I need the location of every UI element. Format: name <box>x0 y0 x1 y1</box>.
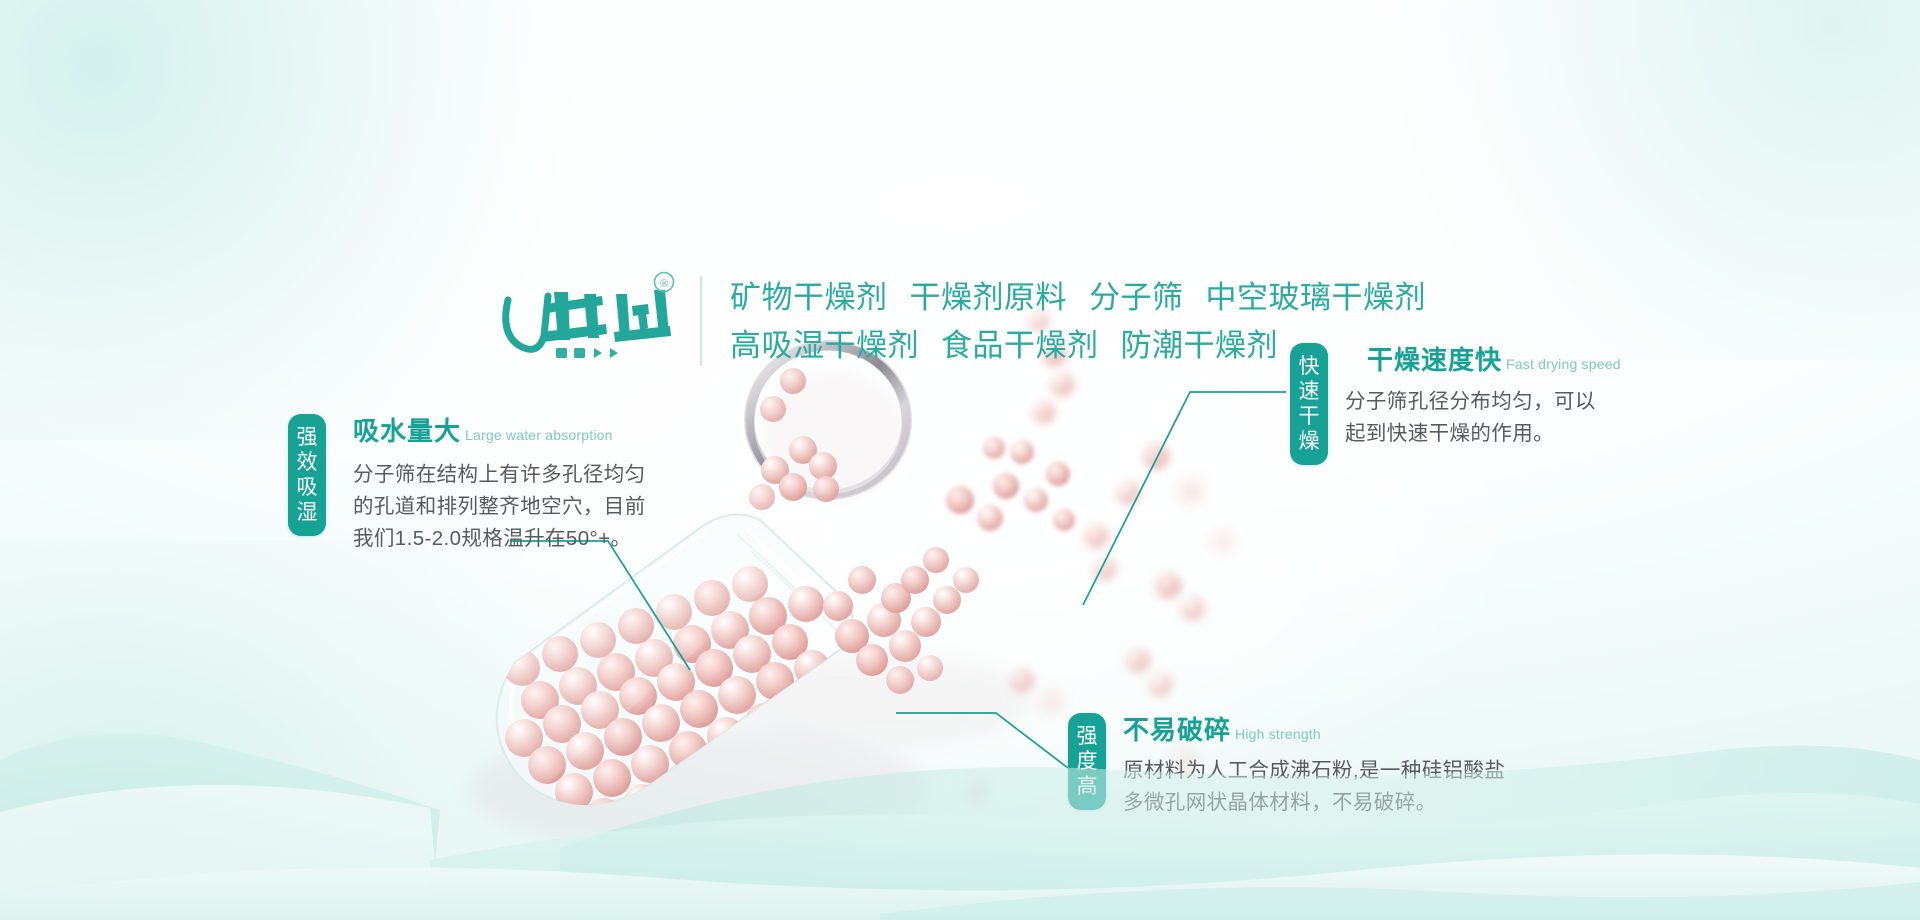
callout-title-cn: 干燥速度快 <box>1367 345 1502 375</box>
callout-title-en: Fast drying speed <box>1506 356 1621 372</box>
callout-heading: 吸水量大Large water absorption <box>353 414 646 453</box>
connector-drying <box>1083 392 1286 605</box>
badge-char: 吸 <box>288 475 326 500</box>
badge-fast-drying: 快 速 干 燥 <box>1290 343 1328 465</box>
callout-body: 分子筛在结构上有许多孔径均匀 的孔道和排列整齐地空穴，目前 我们1.5-2.0规… <box>353 459 646 555</box>
callout-body-line: 我们1.5-2.0规格温升在50°+。 <box>353 523 646 555</box>
company-logo[interactable]: ® <box>498 270 688 366</box>
header-divider <box>700 276 702 366</box>
callout-large-water-absorption: 强 效 吸 湿 吸水量大Large water absorption 分子筛在结… <box>288 414 646 555</box>
callout-heading: 干燥速度快Fast drying speed <box>1367 343 1621 382</box>
callout-title-en: Large water absorption <box>465 427 613 443</box>
badge-char: 快 <box>1290 354 1328 379</box>
callout-body: 分子筛孔径分布均匀，可以 起到快速干燥的作用。 <box>1345 386 1621 450</box>
keyword-desiccant-material[interactable]: 干燥剂原料 <box>910 280 1068 315</box>
callout-body-line: 分子筛在结构上有许多孔径均匀 <box>353 459 646 491</box>
keyword-high-absorption-desiccant[interactable]: 高吸湿干燥剂 <box>730 328 919 363</box>
keyword-moisture-proof-desiccant[interactable]: 防潮干燥剂 <box>1121 328 1279 363</box>
callout-body-line: 起到快速干燥的作用。 <box>1345 418 1621 450</box>
callout-body-line: 的孔道和排列整齐地空穴，目前 <box>353 491 646 523</box>
badge-char: 燥 <box>1290 429 1328 454</box>
banner-canvas: ® 矿物干燥剂干燥剂原料分子筛中空玻璃干燥剂 高吸湿干燥剂食品干燥剂防潮干燥剂 … <box>0 0 1920 920</box>
badge-char: 效 <box>288 450 326 475</box>
badge-char: 湿 <box>288 500 326 525</box>
badge-strong-moisture-absorption: 强 效 吸 湿 <box>288 414 326 536</box>
header: ® 矿物干燥剂干燥剂原料分子筛中空玻璃干燥剂 高吸湿干燥剂食品干燥剂防潮干燥剂 <box>0 128 1920 238</box>
keyword-molecular-sieve[interactable]: 分子筛 <box>1089 280 1184 315</box>
keyword-mineral-desiccant[interactable]: 矿物干燥剂 <box>730 280 888 315</box>
callout-fast-drying-speed: 快 速 干 燥 干燥速度快Fast drying speed 分子筛孔径分布均匀… <box>1290 343 1621 465</box>
decorative-waves <box>0 700 1920 920</box>
connector-absorption <box>510 541 690 670</box>
badge-char: 速 <box>1290 379 1328 404</box>
registered-mark-glyph: ® <box>659 276 668 290</box>
badge-char: 强 <box>288 425 326 450</box>
registered-mark-icon: ® <box>655 273 674 292</box>
callout-body-line: 分子筛孔径分布均匀，可以 <box>1345 386 1621 418</box>
badge-char: 干 <box>1290 404 1328 429</box>
callout-title-cn: 吸水量大 <box>353 416 461 446</box>
keyword-insulating-glass-desiccant[interactable]: 中空玻璃干燥剂 <box>1206 280 1427 315</box>
header-keyword-line-1: 矿物干燥剂干燥剂原料分子筛中空玻璃干燥剂 <box>730 274 1550 322</box>
keyword-food-desiccant[interactable]: 食品干燥剂 <box>941 328 1099 363</box>
